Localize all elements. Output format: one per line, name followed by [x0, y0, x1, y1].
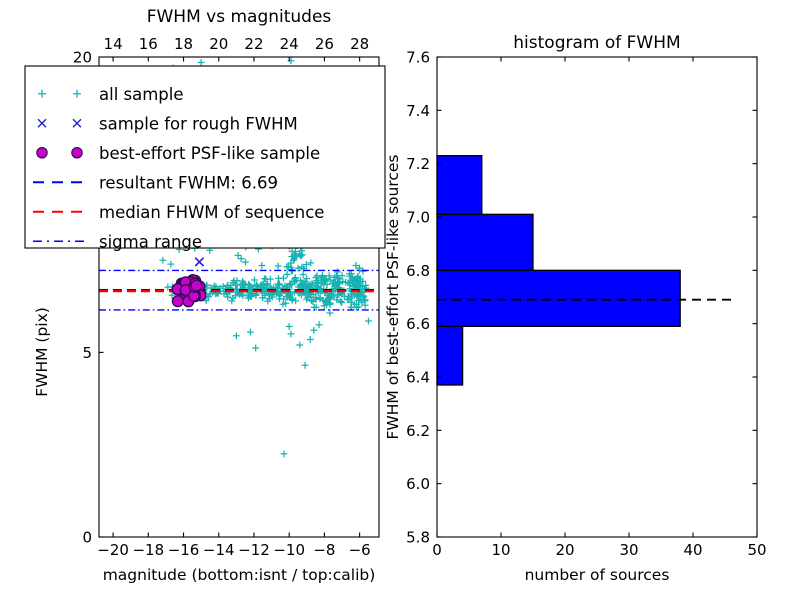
- plus-marker: [238, 255, 245, 262]
- y-tick-label: 0: [82, 529, 92, 547]
- x-tick-label: 40: [683, 541, 702, 559]
- x-tick-label-bottom: −16: [168, 541, 200, 559]
- x-tick-label-bottom: −12: [238, 541, 270, 559]
- plus-marker: [275, 275, 282, 282]
- psf-like-sample-points: [172, 275, 206, 307]
- histogram-bar: [437, 156, 482, 215]
- plus-marker: [307, 336, 314, 343]
- x-tick-label-top: 18: [174, 35, 193, 53]
- plus-marker: [284, 271, 291, 278]
- circle-marker: [172, 296, 183, 307]
- plus-marker: [275, 263, 282, 270]
- x-tick-label-bottom: −10: [273, 541, 305, 559]
- histogram-bar: [437, 326, 463, 385]
- plus-marker: [242, 259, 249, 266]
- plus-marker: [167, 261, 174, 268]
- x-tick-label-bottom: −14: [203, 541, 235, 559]
- x-tick-label: 0: [432, 541, 442, 559]
- y-tick-label: 6.4: [406, 369, 430, 387]
- rough-fwhm-sample-points: [195, 258, 203, 266]
- plus-marker: [292, 297, 299, 304]
- legend-entry-label: best-effort PSF-like sample: [99, 144, 320, 163]
- x-tick-label-bottom: −6: [349, 541, 371, 559]
- cross-marker: [195, 258, 203, 266]
- y-tick-label: 6.2: [406, 422, 430, 440]
- x-tick-label-top: 20: [209, 35, 228, 53]
- plus-marker: [159, 257, 166, 264]
- x-tick-label: 10: [491, 541, 510, 559]
- y-tick-label: 7.0: [406, 209, 430, 227]
- plus-marker: [360, 268, 367, 275]
- x-tick-label-top: 24: [280, 35, 299, 53]
- left-panel-ylabel: FWHM (pix): [33, 307, 51, 397]
- right-panel-xlabel: number of sources: [525, 566, 670, 584]
- y-tick-label: 5: [82, 344, 92, 362]
- y-tick-label: 6.6: [406, 315, 430, 333]
- circle-marker: [37, 148, 47, 158]
- plus-marker: [296, 342, 303, 349]
- x-tick-label-bottom: −8: [313, 541, 335, 559]
- right-panel-ylabel: FWHM of best-effort PSF-like sources: [384, 154, 402, 439]
- plus-marker: [258, 262, 265, 269]
- figure-canvas: −20−18−16−14−12−10−8−6141618202224262805…: [0, 0, 800, 600]
- plus-marker: [247, 329, 254, 336]
- x-tick-label-top: 26: [315, 35, 334, 53]
- legend-entry-label: resultant FWHM: 6.69: [99, 173, 278, 192]
- plus-marker: [337, 298, 344, 305]
- x-tick-label-bottom: −20: [97, 541, 129, 559]
- histogram-bar: [437, 270, 680, 326]
- plus-marker: [235, 252, 242, 259]
- right-panel-title: histogram of FWHM: [513, 33, 680, 53]
- plus-marker: [288, 57, 295, 64]
- right-panel-histogram: 010203040505.86.06.26.46.66.87.07.27.47.…: [384, 33, 767, 584]
- legend: all samplesample for rough FWHMbest-effo…: [25, 66, 385, 251]
- plus-marker: [288, 331, 295, 338]
- left-panel-title: FWHM vs magnitudes: [147, 7, 332, 27]
- y-tick-label: 5.8: [406, 529, 430, 547]
- y-tick-label: 20: [73, 49, 92, 67]
- legend-entry-label: all sample: [99, 85, 184, 104]
- plus-marker: [302, 362, 309, 369]
- legend-entry-label: sigma range: [99, 232, 202, 251]
- x-tick-label: 30: [619, 541, 638, 559]
- x-tick-label: 20: [555, 541, 574, 559]
- x-tick-label-top: 14: [104, 35, 123, 53]
- y-tick-label: 6.8: [406, 262, 430, 280]
- plus-marker: [310, 327, 317, 334]
- x-tick-label: 50: [747, 541, 766, 559]
- legend-entry-label: median FHWM of sequence: [99, 203, 324, 222]
- y-tick-label: 6.0: [406, 475, 430, 493]
- y-tick-label: 7.2: [406, 155, 430, 173]
- y-tick-label: 7.6: [406, 49, 430, 67]
- plus-marker: [307, 259, 314, 266]
- x-tick-label-top: 16: [139, 35, 158, 53]
- x-tick-label-top: 22: [244, 35, 263, 53]
- circle-marker: [191, 280, 202, 291]
- histogram-bars: [437, 156, 680, 385]
- left-panel-xlabel: magnitude (bottom:isnt / top:calib): [103, 566, 376, 584]
- plus-marker: [198, 59, 205, 66]
- plus-marker: [252, 345, 259, 352]
- circle-marker: [72, 148, 82, 158]
- y-tick-label: 7.4: [406, 102, 430, 120]
- plus-marker: [233, 332, 240, 339]
- x-tick-label-top: 28: [350, 35, 369, 53]
- plus-marker: [316, 321, 323, 328]
- plus-marker: [327, 310, 334, 317]
- legend-entry-label: sample for rough FWHM: [99, 114, 298, 133]
- histogram-bar: [437, 214, 533, 270]
- plus-marker: [365, 318, 372, 325]
- matplotlib-figure: −20−18−16−14−12−10−8−6141618202224262805…: [0, 0, 800, 600]
- plus-marker: [286, 323, 293, 330]
- plus-marker: [281, 451, 288, 458]
- x-tick-label-bottom: −18: [132, 541, 164, 559]
